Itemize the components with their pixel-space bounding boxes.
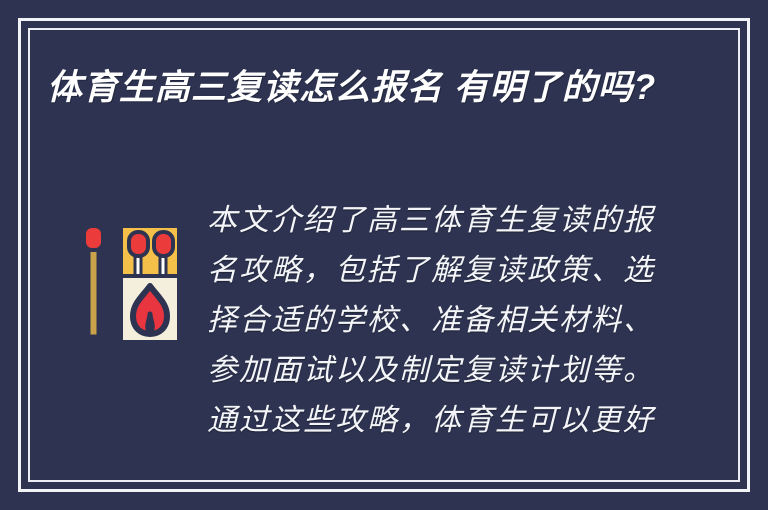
- body-paragraph: 本文介绍了高三体育生复读的报 名攻略，包括了解复读政策、选 择合适的学校、准备相…: [207, 196, 637, 446]
- matchbox-icon: [71, 218, 183, 350]
- poster-card: 体育生高三复读怎么报名 有明了的吗?: [0, 0, 768, 510]
- illustration-container: [47, 196, 207, 350]
- flame-inner-notch: [148, 314, 152, 334]
- body-line: 本文介绍了高三体育生复读的报: [207, 196, 637, 246]
- content-row: 本文介绍了高三体育生复读的报 名攻略，包括了解复读政策、选 择合适的学校、准备相…: [47, 196, 728, 446]
- matchbox-tray: [121, 226, 179, 278]
- body-line: 通过这些攻略，体育生可以更好: [207, 396, 637, 446]
- body-line: 名攻略，包括了解复读政策、选: [207, 246, 637, 296]
- body-line: 参加面试以及制定复读计划等。: [207, 346, 637, 396]
- body-line: 择合适的学校、准备相关材料、: [207, 296, 637, 346]
- single-match-icon: [84, 226, 103, 336]
- page-title: 体育生高三复读怎么报名 有明了的吗?: [47, 62, 687, 113]
- matchbox-body: [121, 276, 179, 342]
